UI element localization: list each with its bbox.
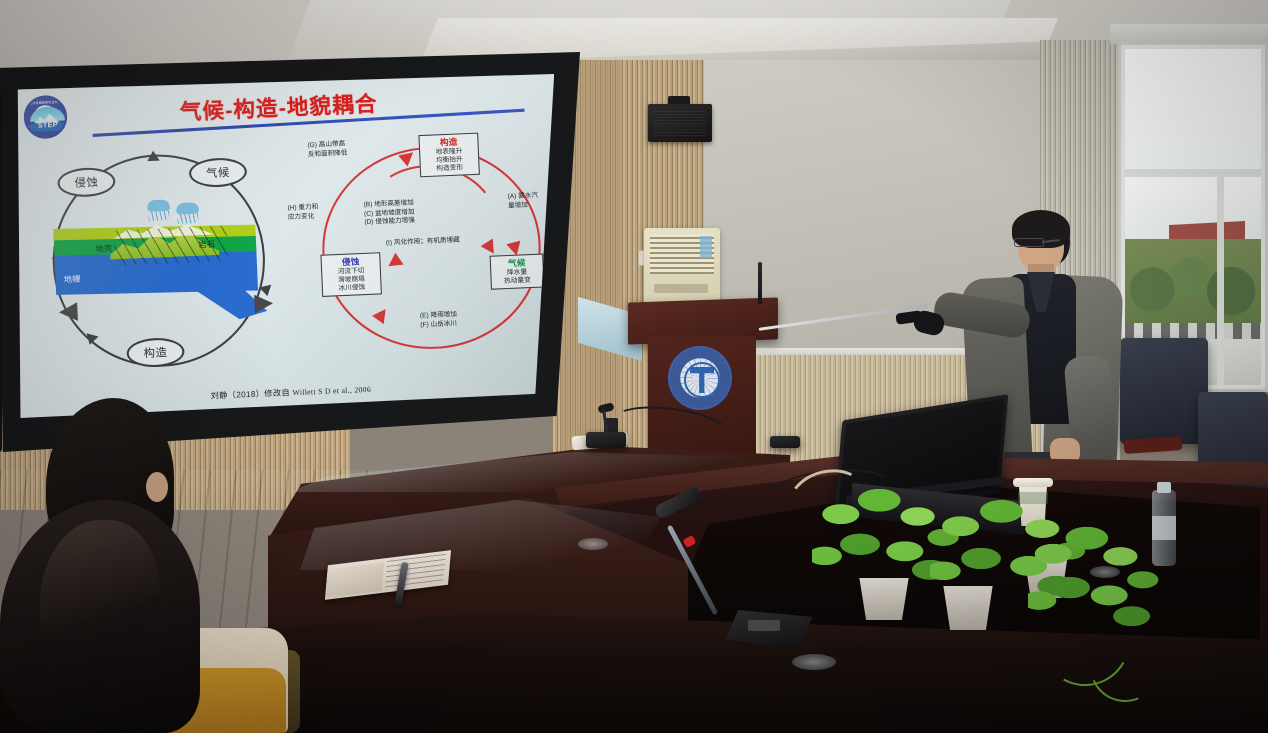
rain-icon-right xyxy=(178,214,199,224)
convergence-arrow-right xyxy=(254,294,273,313)
climate-tectonics-erosion-cycle: 侵蚀 气候 构造 地幔 xyxy=(32,141,289,388)
annotation-ef: (E) 降雨增加(F) 山岳冰川 xyxy=(420,311,458,330)
annotation-h: (H) 重力和应力变化 xyxy=(287,203,318,222)
annotation-a: (A) 雾水汽量增加 xyxy=(508,192,539,211)
convergence-arrow-left xyxy=(59,302,78,321)
table-device-base[interactable] xyxy=(770,436,800,448)
audience-1-ear xyxy=(146,472,168,502)
speaker-grill xyxy=(654,110,706,136)
microphone-button-plate[interactable] xyxy=(748,620,780,631)
label-crust: 地壳 xyxy=(95,243,113,255)
slide-title: 气候-构造-地貌耦合 xyxy=(15,80,554,135)
audience-member-second xyxy=(0,500,280,733)
rain-icon-left xyxy=(149,211,170,221)
audience-2-hair-highlight xyxy=(40,520,160,690)
feedback-loop-diagram: 构造 地表隆升 均衡抬升 构造变形 侵蚀 河流下切 滑坡崩塌 冰川侵蚀 气候 降… xyxy=(301,125,554,372)
projection-screen: 第二次青藏高原综合科学考察研究 STEP 气候-构造-地貌耦合 侵蚀 气候 构造 xyxy=(0,52,580,452)
feedback-box-climate-line-2: 热动量变 xyxy=(495,276,541,286)
notebook-left-page xyxy=(325,562,384,597)
cycle-arrow-top xyxy=(147,150,160,161)
window-mullion-horizontal xyxy=(1125,169,1261,177)
ac-control-panel[interactable] xyxy=(654,284,708,293)
conference-room-scene: 第二次青藏高原综合科学考察研究 STEP 气候-构造-地貌耦合 侵蚀 气候 构造 xyxy=(0,0,1268,733)
podium-microphone[interactable] xyxy=(758,262,762,304)
table-grommet-2 xyxy=(792,654,836,670)
bottle-cap xyxy=(1157,482,1171,493)
annotation-g: (G) 高山带高反和面积降低 xyxy=(307,140,347,159)
feedback-box-erosion-line-3: 冰川侵蚀 xyxy=(326,283,378,294)
feedback-box-climate: 气候 降水量 热动量变 xyxy=(490,253,545,289)
presenter-glasses xyxy=(1014,238,1044,247)
annotation-bcd: (B) 地形高差增加(C) 盆地坡度增加(D) 侵蚀能力增强 xyxy=(364,199,416,228)
screen-surface: 第二次青藏高原综合科学考察研究 STEP 气候-构造-地貌耦合 侵蚀 气候 构造 xyxy=(15,74,554,418)
crust-mantle-block-model: 地幔 地壳 岩石 xyxy=(53,218,267,330)
ac-badge xyxy=(700,236,712,258)
screen-roller-bar xyxy=(0,92,2,452)
slide-credit-en: Willett S D et al., 2006 xyxy=(292,385,371,398)
university-emblem xyxy=(668,346,732,410)
coffee-cup-lid xyxy=(1013,478,1053,487)
notebook-ruled-lines xyxy=(384,554,445,588)
label-mantle: 地幔 xyxy=(64,273,82,285)
feedback-box-tectonics-line-3: 构造变形 xyxy=(424,163,476,174)
cycle-label-climate: 气候 xyxy=(189,157,248,188)
feedback-box-erosion: 侵蚀 河流下切 滑坡崩塌 冰川侵蚀 xyxy=(321,252,382,297)
projected-slide: 第二次青藏高原综合科学考察研究 STEP 气候-构造-地貌耦合 侵蚀 气候 构造 xyxy=(15,74,554,418)
feedback-box-tectonics: 构造 地表隆升 均衡抬升 构造变形 xyxy=(419,133,480,178)
far-microphone-base[interactable] xyxy=(586,432,626,448)
slide-credit-cn: 刘静（2018）修改自 xyxy=(210,388,290,401)
window-glass-upper xyxy=(1125,49,1261,169)
window-mullion-vertical xyxy=(1217,177,1224,385)
table-grommet-1 xyxy=(578,538,608,550)
label-rock: 岩石 xyxy=(198,239,216,251)
window-header xyxy=(1110,24,1268,44)
ceiling-speaker xyxy=(648,104,712,142)
